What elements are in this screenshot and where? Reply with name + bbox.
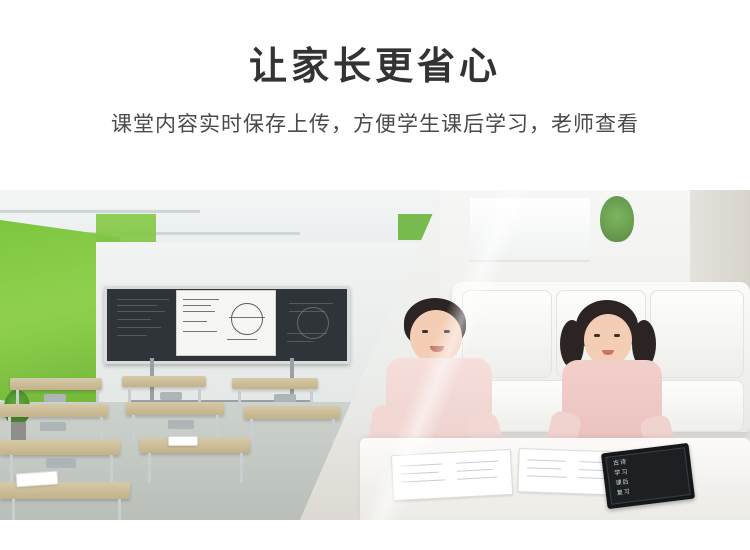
tablet-screen: 古诗 学习 课后 复习 [605,447,690,504]
open-book [391,449,513,501]
plant-pot [10,422,26,442]
hero-image: 古诗 学习 课后 复习 [0,190,750,520]
open-book [168,436,198,446]
chair [274,394,296,402]
face [410,310,462,364]
chair [168,420,194,429]
sofa-cushion [650,290,744,378]
page-title: 让家长更省心 [0,44,750,90]
page-subtitle: 课堂内容实时保存上传，方便学生课后学习，老师查看 [0,110,750,140]
face [584,314,632,366]
text-block: 让家长更省心 课堂内容实时保存上传，方便学生课后学习，老师查看 [0,0,750,190]
lesson-content-screen [176,290,276,356]
desk [126,402,224,415]
tablet-text-line: 复习 [617,489,632,498]
desk [10,378,102,390]
bottom-whitespace [0,520,750,550]
tablet-device[interactable]: 古诗 学习 课后 复习 [601,443,695,509]
chair [44,394,66,402]
tablet-text-line: 古诗 [613,459,628,468]
desk [244,406,340,419]
desk [232,378,318,389]
chair [160,392,182,400]
ceiling-strip [0,210,200,213]
promo-page: 让家长更省心 课堂内容实时保存上传，方便学生课后学习，老师查看 [0,0,750,550]
desk [0,404,108,417]
tablet-text-line: 课后 [615,479,630,488]
tablet-text-line: 学习 [614,469,629,478]
window [470,198,590,262]
open-book [16,471,59,488]
desk [122,376,206,387]
desk [0,440,120,455]
potted-plant [600,196,634,242]
chair [46,458,76,468]
chair [40,422,66,431]
